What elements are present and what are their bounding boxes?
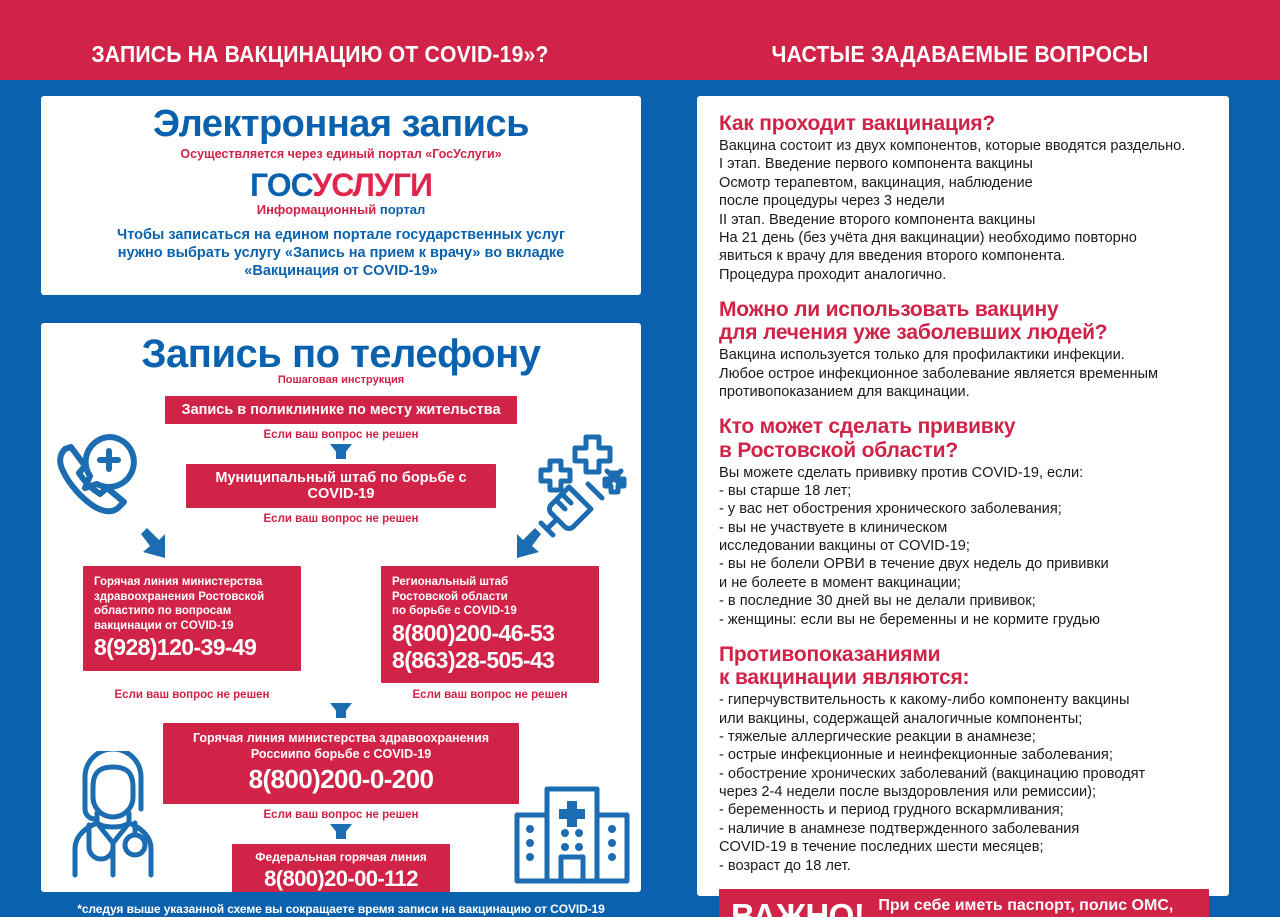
faq-item-1-body: Вакцина состоит из двух компонентов, кот… [719, 137, 1209, 284]
faq-item-4-body: - гиперчувствительность к какому-либо ко… [719, 691, 1209, 875]
faq-4-line-7: - беременность и период грудного вскармл… [719, 801, 1209, 819]
branch-left-col: Горячая линия министерства здравоохранен… [83, 566, 301, 683]
faq-item-2-body: Вакцина используется только для профилак… [719, 346, 1209, 401]
faq-item-4: Противопоказаниями к вакцинации являются… [719, 643, 1209, 875]
faq-3-line-1: Вы можете сделать прививку против COVID-… [719, 464, 1209, 482]
flow-step-2-box: Муниципальный штаб по борьбе с COVID-19 [186, 464, 496, 508]
faq-4-line-6: через 2-4 недели после выздоровления или… [719, 783, 1209, 801]
phone-title: Запись по телефону [55, 333, 627, 375]
branch-right-col: Региональный штаб Ростовской области по … [381, 566, 599, 683]
flow-branch-arrows [55, 528, 627, 562]
gosuslugi-tagline: Информационный портал [57, 202, 625, 217]
faq-3-line-6: - вы не болели ОРВИ в течение двух недел… [719, 555, 1209, 573]
electronic-instructions-line-2: нужно выбрать услугу «Запись на прием к … [57, 245, 625, 263]
faq-4-line-8: - наличие в анамнезе подтвержденного заб… [719, 820, 1209, 838]
faq-4-line-1: - гиперчувствительность к какому-либо ко… [719, 691, 1209, 709]
gosuslugi-logo: ГОСУСЛУГИ [57, 169, 625, 201]
important-word: ВАЖНО! [731, 899, 864, 917]
ministry-hotline-line-1: Горячая линия министерства [94, 575, 290, 590]
header-title-left: ЗАПИСЬ НА ВАКЦИНАЦИЮ ОТ COVID-19»? [26, 41, 615, 80]
faq-1-line-3: Осмотр терапевтом, вакцинация, наблюдени… [719, 174, 1209, 192]
federal-hotline-phone[interactable]: 8(800)20-00-112 [242, 867, 440, 891]
gosuslugi-tagline-b: портал [380, 202, 425, 217]
faq-4-line-9: COVID-19 в течение последних шести месяц… [719, 838, 1209, 856]
faq-item-4-title-line-2: к вакцинации являются: [719, 666, 1209, 689]
faq-item-1-title: Как проходит вакцинация? [719, 112, 1209, 135]
faq-1-line-8: Процедура проходит аналогично. [719, 266, 1209, 284]
faq-item-2: Можно ли использовать вакцину для лечени… [719, 298, 1209, 401]
faq-4-line-4: - острые инфекционные и неинфекционные з… [719, 746, 1209, 764]
gosuslugi-logo-part1: ГОС [250, 167, 312, 203]
regional-hq-box: Региональный штаб Ростовской области по … [381, 566, 599, 683]
faq-3-line-2: - вы старше 18 лет; [719, 482, 1209, 500]
federal-health-hotline-box: Горячая линия министерства здравоохранен… [163, 723, 519, 803]
electronic-instructions: Чтобы записаться на едином портале госуд… [57, 227, 625, 281]
arrow-down-right-icon [511, 528, 541, 562]
electronic-instructions-line-1: Чтобы записаться на едином портале госуд… [57, 227, 625, 245]
faq-3-line-3: - у вас нет обострения хронического забо… [719, 500, 1209, 518]
regional-hq-phone-2[interactable]: 8(863)28-505-43 [392, 648, 588, 673]
regional-hq-line-1: Региональный штаб [392, 575, 588, 590]
important-text: При себе иметь паспорт, полис ОМС, СНИЛС… [878, 897, 1173, 917]
faq-card: Как проходит вакцинация? Вакцина состоит… [694, 93, 1232, 899]
ministry-hotline-phone[interactable]: 8(928)120-39-49 [94, 635, 290, 660]
faq-3-line-7: и не болеете в момент вакцинации; [719, 574, 1209, 592]
header-title-right: ЧАСТЫЕ ЗАДАВАЕМЫЕ ВОПРОСЫ [666, 41, 1255, 80]
faq-4-line-5: - обострение хронических заболеваний (ва… [719, 765, 1209, 783]
faq-4-line-2: или вакцины, содержащей аналогичные комп… [719, 710, 1209, 728]
federal-hotline-label: Федеральная горячая линия [242, 850, 440, 865]
electronic-instructions-line-3: «Вакцинация от COVID-19» [57, 263, 625, 281]
flow-hint-1: Если ваш вопрос не решен [55, 429, 627, 441]
electronic-subtitle: Осуществляется через единый портал «ГосУ… [57, 147, 625, 161]
faq-1-line-7: явиться к врачу для введения второго ком… [719, 247, 1209, 265]
ministry-hotline-line-4: вакцинации от COVID-19 [94, 619, 290, 634]
faq-1-line-4: после процедуры через 3 недели [719, 192, 1209, 210]
flow-hint-4: Если ваш вопрос не решен [55, 809, 627, 821]
faq-2-line-2: Любое острое инфекционное заболевание яв… [719, 365, 1209, 383]
phone-appointment-card: Запись по телефону Пошаговая инструкция … [38, 320, 644, 895]
flow-branch-boxes: Горячая линия министерства здравоохранен… [55, 566, 627, 683]
faq-3-line-5: исследовании вакцины от COVID-19; [719, 537, 1209, 555]
faq-1-line-6: На 21 день (без учёта дня вакцинации) не… [719, 229, 1209, 247]
important-text-line-1: При себе иметь паспорт, полис ОМС, [878, 897, 1173, 916]
gosuslugi-tagline-a: Информационный [257, 202, 380, 217]
flow-hint-2: Если ваш вопрос не решен [55, 513, 627, 525]
faq-4-line-10: - возраст до 18 лет. [719, 857, 1209, 875]
phone-subtitle: Пошаговая инструкция [55, 374, 627, 386]
electronic-title: Электронная запись [57, 104, 625, 145]
federal-health-phone[interactable]: 8(800)200-0-200 [173, 765, 509, 794]
faq-item-2-title-line-2: для лечения уже заболевших людей? [719, 321, 1209, 344]
important-banner: ВАЖНО! При себе иметь паспорт, полис ОМС… [719, 889, 1209, 917]
faq-4-line-3: - тяжелые аллергические реакции в анамне… [719, 728, 1209, 746]
faq-1-line-2: I этап. Введение первого компонента вакц… [719, 155, 1209, 173]
arrow-down-left-icon [141, 528, 171, 562]
federal-health-line-2: Россиипо борьбе с COVID-19 [173, 747, 509, 763]
faq-item-3: Кто может сделать прививку в Ростовской … [719, 415, 1209, 629]
faq-3-line-4: - вы не участвуете в клиническом [719, 519, 1209, 537]
regional-hq-phone-1[interactable]: 8(800)200-46-53 [392, 621, 588, 646]
main-columns: Электронная запись Осуществляется через … [0, 80, 1280, 917]
poster-root: ЗАПИСЬ НА ВАКЦИНАЦИЮ ОТ COVID-19»? ЧАСТЫ… [0, 0, 1280, 917]
federal-hotline-box: Федеральная горячая линия 8(800)20-00-11… [232, 844, 450, 895]
phone-flow-diagram: Запись в поликлинике по месту жительства… [55, 396, 627, 895]
faq-item-3-title-line-1: Кто может сделать прививку [719, 415, 1209, 438]
flow-step-1-box: Запись в поликлинике по месту жительства [165, 396, 517, 424]
header-bar: ЗАПИСЬ НА ВАКЦИНАЦИЮ ОТ COVID-19»? ЧАСТЫ… [0, 0, 1280, 80]
faq-2-line-1: Вакцина используется только для профилак… [719, 346, 1209, 364]
faq-item-2-title-line-1: Можно ли использовать вакцину [719, 298, 1209, 321]
left-column: Электронная запись Осуществляется через … [0, 80, 666, 917]
faq-1-line-5: II этап. Введение второго компонента вак… [719, 211, 1209, 229]
flow-hint-3-right: Если ваш вопрос не решен [381, 689, 599, 701]
flow-hint-pair: Если ваш вопрос не решен Если ваш вопрос… [55, 683, 627, 701]
faq-item-3-body: Вы можете сделать прививку против COVID-… [719, 464, 1209, 629]
faq-3-line-8: - в последние 30 дней вы не делали приви… [719, 592, 1209, 610]
ministry-hotline-line-3: областипо по вопросам [94, 604, 290, 619]
faq-3-line-9: - женщины: если вы не беременны и не кор… [719, 611, 1209, 629]
faq-item-1: Как проходит вакцинация? Вакцина состоит… [719, 112, 1209, 284]
federal-health-line-1: Горячая линия министерства здравоохранен… [173, 731, 509, 747]
flow-arrow-3 [55, 824, 627, 838]
faq-item-3-title-line-2: в Ростовской области? [719, 439, 1209, 462]
faq-1-line-1: Вакцина состоит из двух компонентов, кот… [719, 137, 1209, 155]
faq-2-line-3: противопоказанием для вакцинации. [719, 383, 1209, 401]
regional-hq-line-3: по борьбе с COVID-19 [392, 604, 588, 619]
flow-arrow-2 [55, 703, 627, 717]
faq-item-4-title-line-1: Противопоказаниями [719, 643, 1209, 666]
flow-arrow-1 [55, 444, 627, 458]
ministry-hotline-box: Горячая линия министерства здравоохранен… [83, 566, 301, 671]
right-column: Как проходит вакцинация? Вакцина состоит… [666, 80, 1280, 917]
gosuslugi-logo-part2: УСЛУГИ [312, 167, 432, 203]
ministry-hotline-line-2: здравоохранения Ростовской [94, 590, 290, 605]
regional-hq-line-2: Ростовской области [392, 590, 588, 605]
electronic-appointment-card: Электронная запись Осуществляется через … [38, 93, 644, 298]
flow-hint-3-left: Если ваш вопрос не решен [83, 689, 301, 701]
phone-footnote: *следуя выше указанной схеме вы сокращае… [38, 902, 644, 916]
